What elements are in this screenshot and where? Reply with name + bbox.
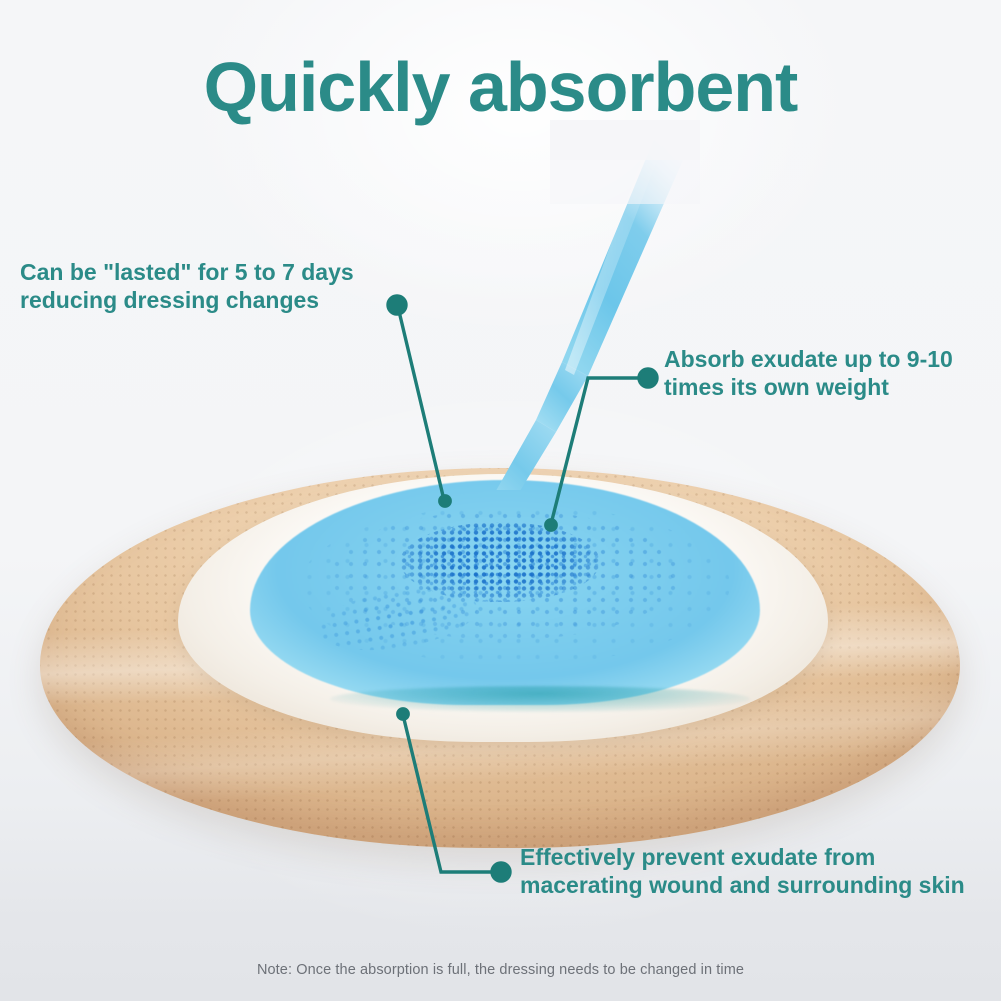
callout-duration-line2: reducing dressing changes — [20, 286, 420, 314]
wet-seam-highlight — [330, 686, 750, 712]
callout-maceration-line2: macerating wound and surrounding skin — [520, 871, 990, 899]
callout-maceration-line1: Effectively prevent exudate from — [520, 843, 990, 871]
infographic-canvas: Quickly absorbent — [0, 0, 1001, 1001]
callout-capacity-line2: times its own weight — [664, 373, 994, 401]
callout-duration: Can be "lasted" for 5 to 7 days reducing… — [20, 258, 420, 314]
callout-capacity-line1: Absorb exudate up to 9-10 — [664, 345, 994, 373]
callout-capacity: Absorb exudate up to 9-10 times its own … — [664, 345, 994, 401]
footer-note: Note: Once the absorption is full, the d… — [0, 962, 1001, 978]
callout-maceration: Effectively prevent exudate from macerat… — [520, 843, 990, 899]
callout-duration-line1: Can be "lasted" for 5 to 7 days — [20, 258, 420, 286]
